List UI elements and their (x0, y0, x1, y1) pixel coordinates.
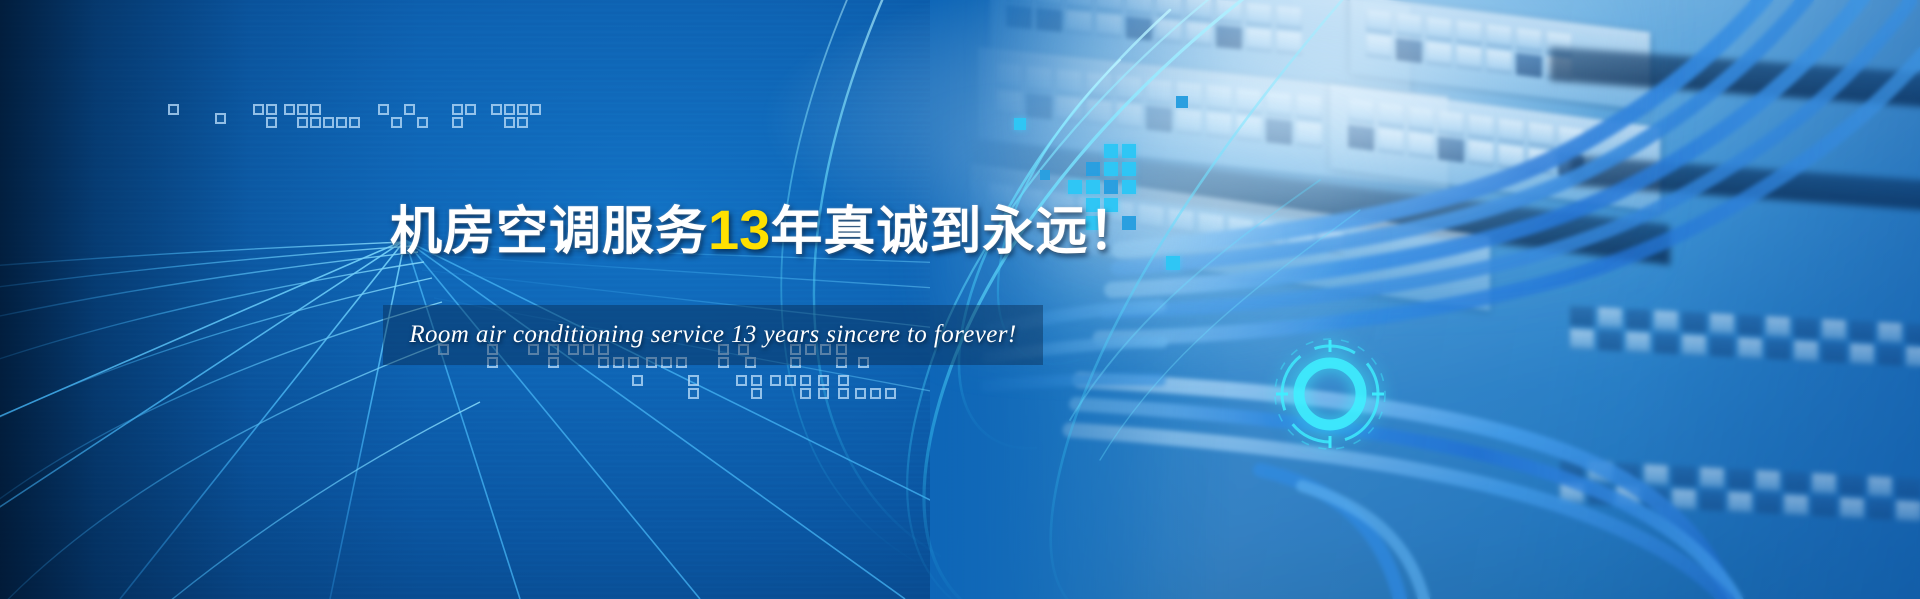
banner-subtitle-box: Room air conditioning service 13 years s… (383, 305, 1043, 365)
headline-suffix: 年真诚到永远！ (770, 203, 1141, 261)
headline-years-number: 13 (708, 198, 770, 261)
tech-target-ring-icon (1268, 332, 1392, 456)
banner-subtitle: Room air conditioning service 13 years s… (409, 321, 1016, 349)
pixel-mosaic-cyan (0, 0, 1920, 599)
banner-headline: 机房空调服务13年真诚到永远！ (390, 202, 1141, 258)
hero-banner: 机房空调服务13年真诚到永远！ Room air conditioning se… (0, 0, 1920, 599)
headline-prefix: 机房空调服务 (390, 203, 708, 261)
